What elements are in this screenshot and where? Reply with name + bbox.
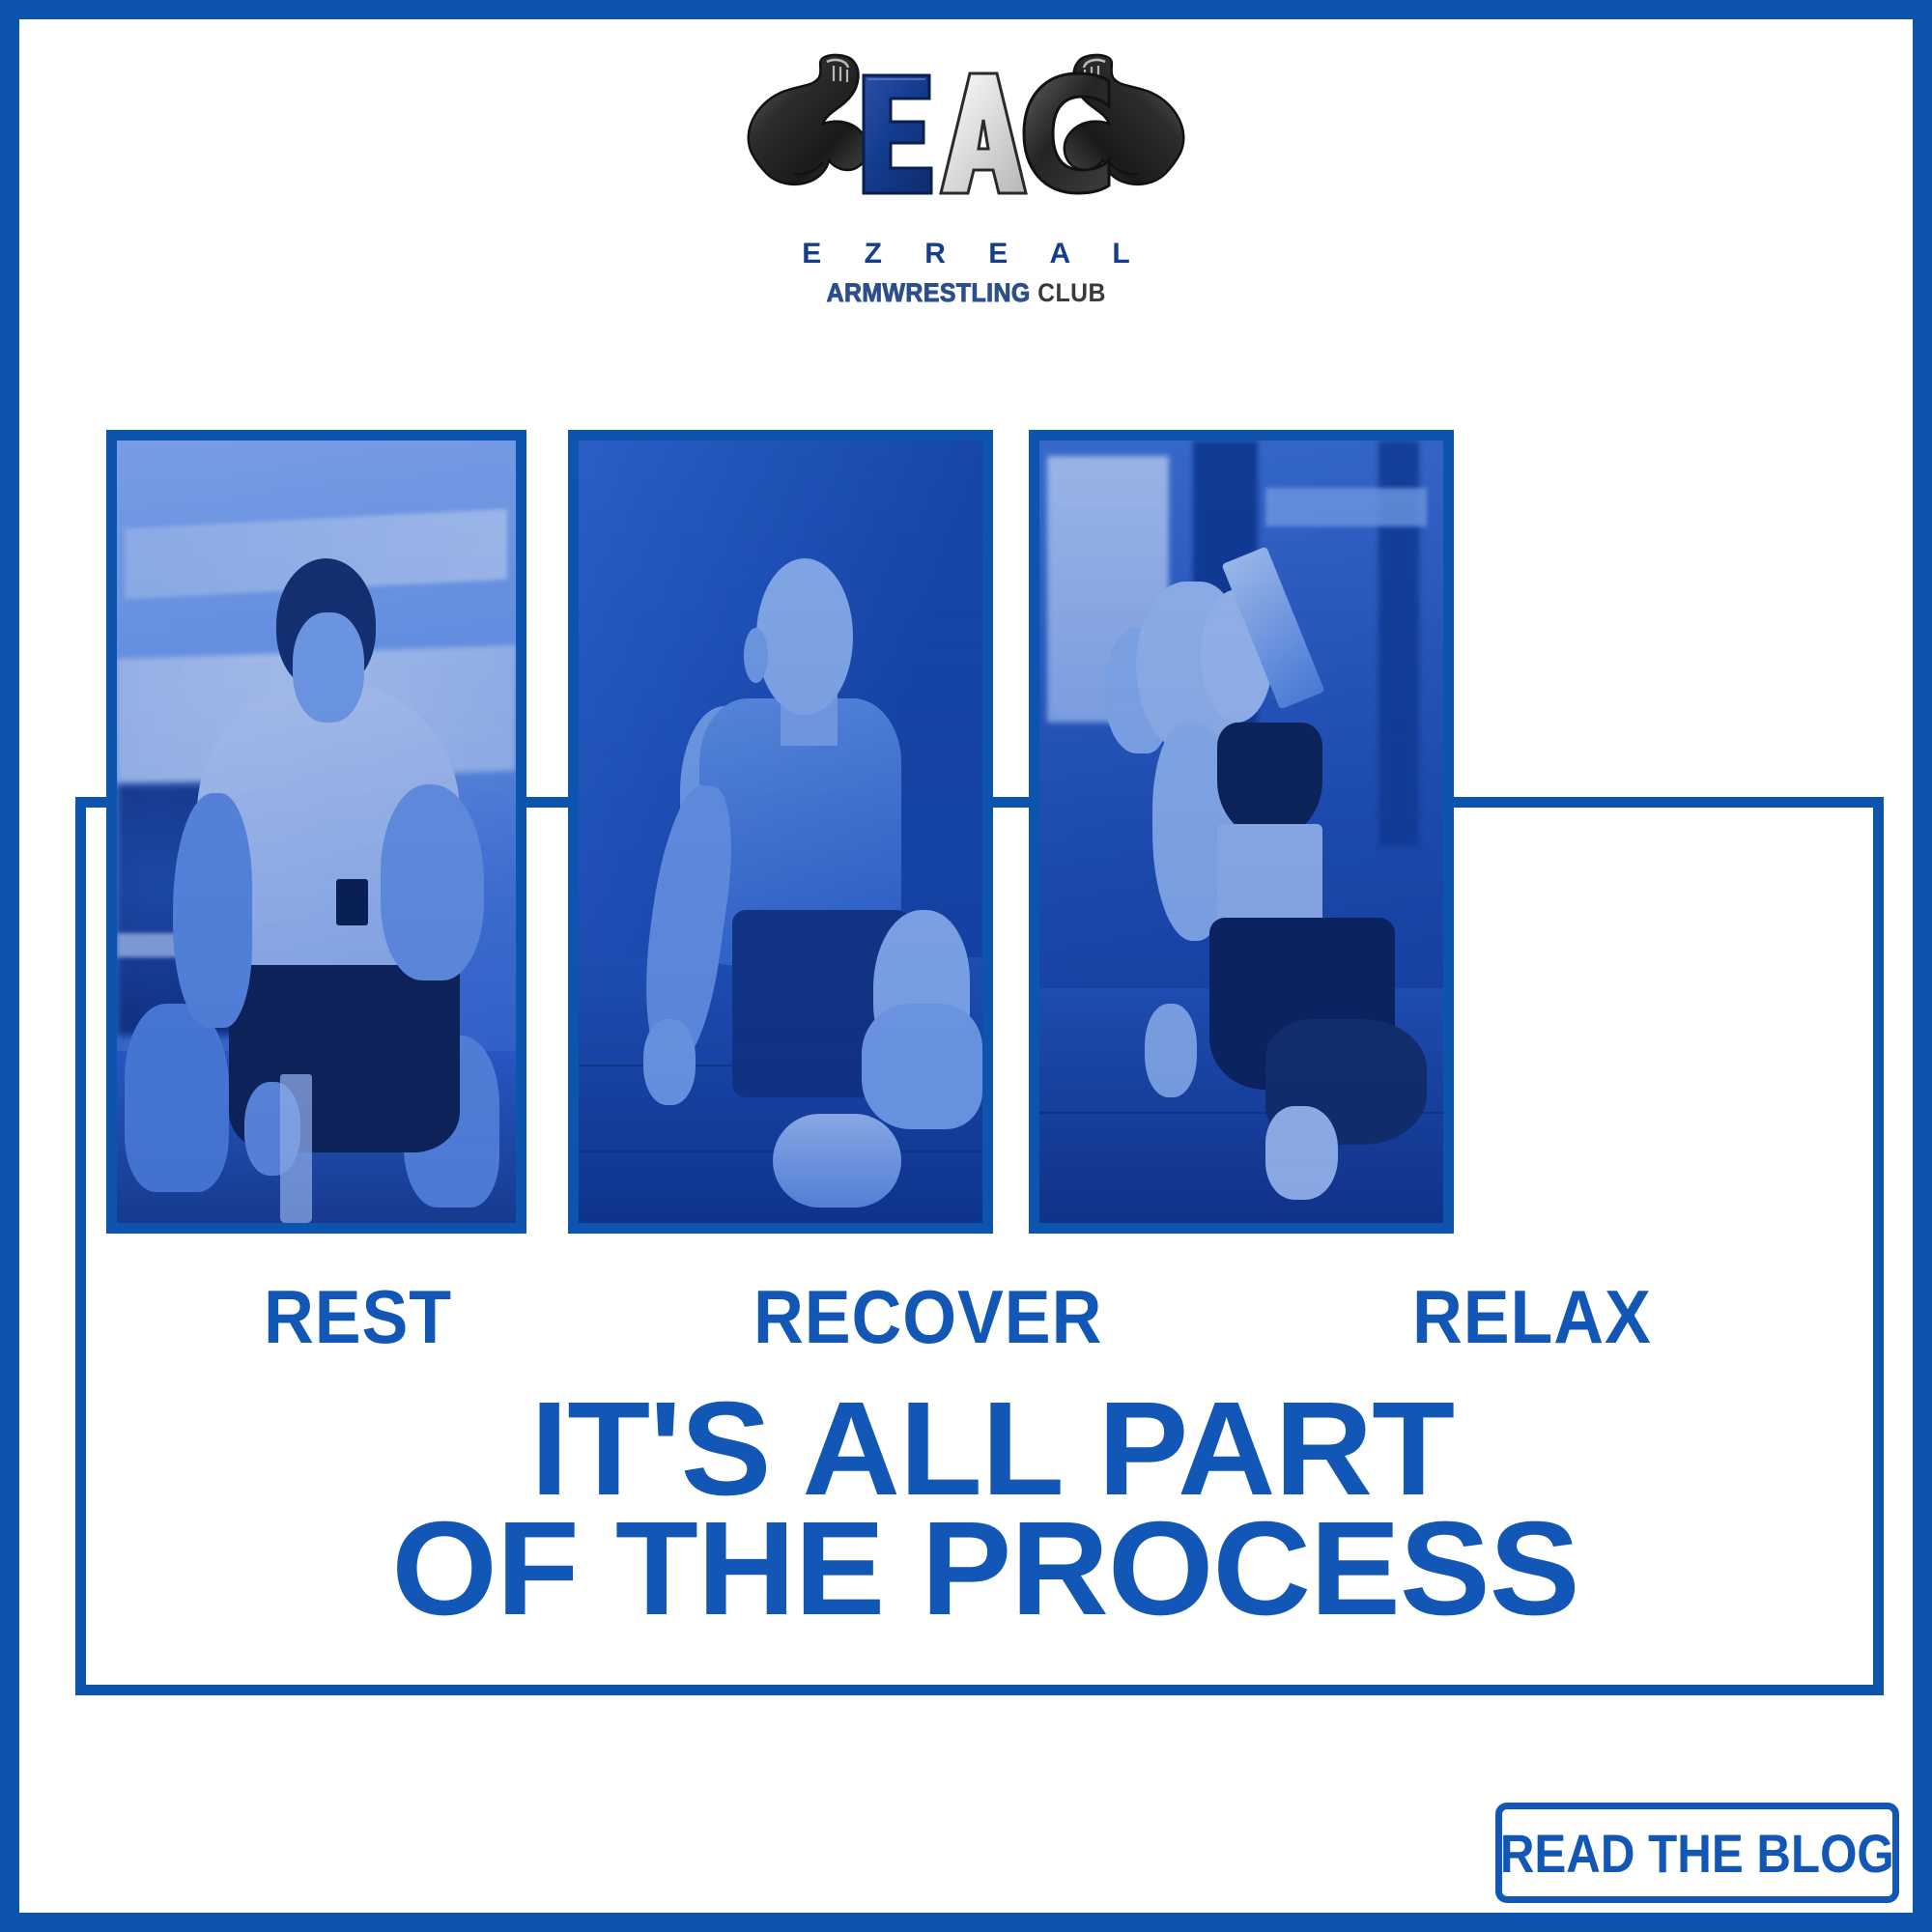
- photo-relax: [1029, 430, 1454, 1234]
- photo-captions: REST RECOVER RELAX: [19, 1273, 1932, 1360]
- poster-canvas: E Z R E A L ARMWRESTLING CLUB: [0, 0, 1932, 1932]
- flexing-arm-left-icon: [749, 55, 867, 185]
- logo-letter-e: [864, 75, 931, 193]
- caption-recover: RECOVER: [753, 1273, 1102, 1361]
- headline: IT'S ALL PART OF THE PROCESS: [19, 1389, 1932, 1629]
- logo-subwordmark: ARMWRESTLING CLUB: [826, 278, 1105, 308]
- logo-wordmark: E Z R E A L: [784, 238, 1147, 270]
- caption-rest: REST: [264, 1273, 452, 1361]
- read-the-blog-button[interactable]: READ THE BLOG: [1495, 1803, 1899, 1903]
- photo-recover: [568, 430, 993, 1234]
- eac-logo-svg: [734, 48, 1198, 232]
- logo-letter-a: [941, 73, 1026, 193]
- logo-subwordmark-armwrestling: ARMWRESTLING: [826, 278, 1030, 307]
- read-the-blog-label: READ THE BLOG: [1500, 1822, 1894, 1885]
- photo-rest: [106, 430, 526, 1234]
- photo-strip: [19, 430, 1932, 1234]
- logo-subwordmark-club: CLUB: [1037, 278, 1106, 307]
- headline-line-1: IT'S ALL PART: [0, 1389, 1932, 1509]
- caption-relax: RELAX: [1412, 1273, 1652, 1361]
- eac-logo-mark: [734, 48, 1198, 232]
- brand-logo: E Z R E A L ARMWRESTLING CLUB: [19, 48, 1913, 308]
- headline-line-2: OF THE PROCESS: [0, 1509, 1932, 1629]
